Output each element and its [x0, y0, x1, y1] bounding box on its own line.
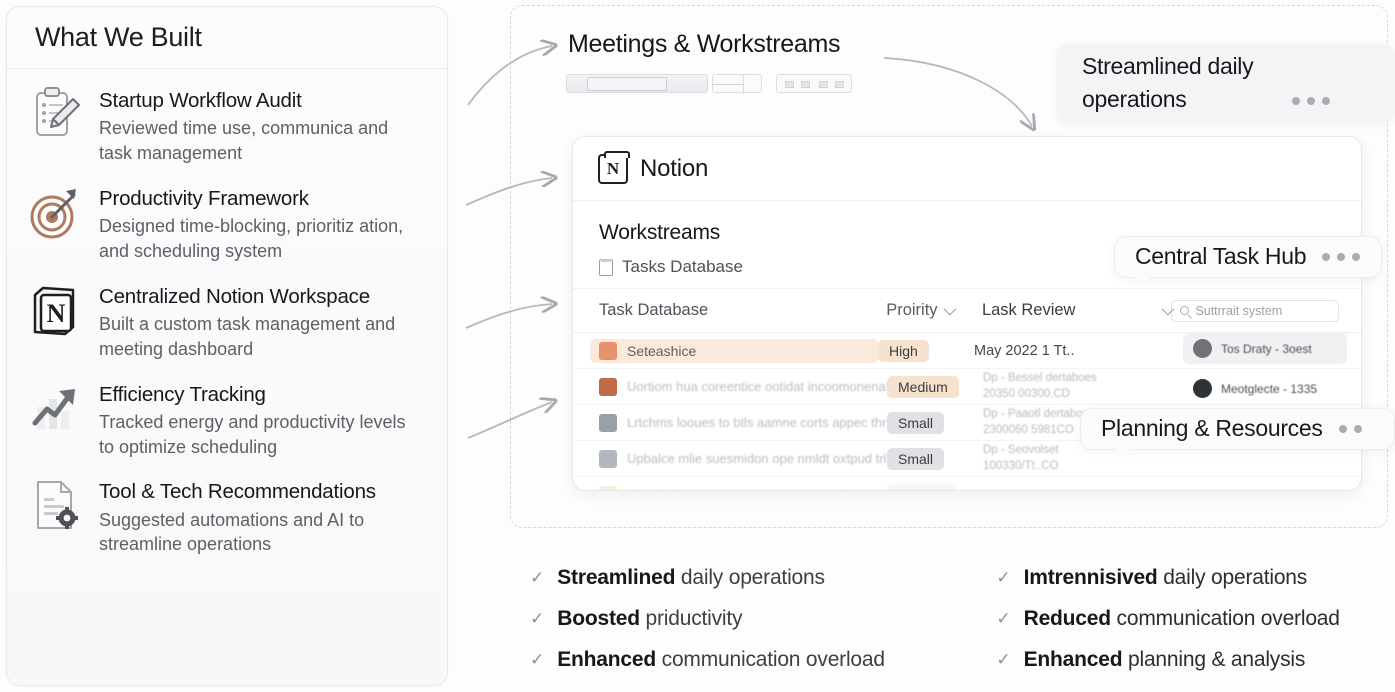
column-header-priority[interactable]: Proirity — [886, 301, 982, 320]
checklist-text-rest: daily operations — [675, 566, 825, 589]
table-header-row: Task Database Proirity Lask Review Suttr… — [573, 289, 1361, 333]
row-name: Uhntiiod Itemsnnolott niostpeee ont loll… — [627, 487, 887, 491]
callout-streamlined-daily-operations[interactable]: Streamlined daily operations — [1056, 44, 1395, 122]
database-icon — [599, 259, 613, 276]
notion-logo-icon — [598, 154, 628, 184]
slider-strip-widget — [566, 74, 708, 93]
feature-title: Efficiency Tracking — [99, 383, 425, 407]
avatar — [1193, 339, 1212, 358]
row-priority-cell: Meuum — [887, 484, 983, 492]
column-header-name[interactable]: Task Database — [599, 301, 886, 320]
callout-text: Central Task Hub — [1135, 240, 1306, 273]
checklist-text-rest: communication overload — [656, 648, 885, 671]
avatar — [1193, 379, 1212, 398]
feature-list: Startup Workflow Audit Reviewed time use… — [7, 69, 447, 557]
feature-title: Startup Workflow Audit — [99, 89, 425, 113]
callout-central-task-hub[interactable]: Central Task Hub — [1114, 236, 1382, 278]
check-icon: ✓ — [530, 651, 544, 668]
list-item[interactable]: Startup Workflow Audit Reviewed time use… — [29, 87, 425, 166]
column-header-review-label: Lask Review — [982, 301, 1076, 320]
search-icon — [1180, 306, 1189, 315]
checklist-text-rest: planning & analysis — [1122, 648, 1305, 671]
list-item: ✓ Enhanced planning & analysis — [996, 648, 1385, 689]
list-item[interactable]: Meotglecte - 1335 — [1183, 373, 1347, 404]
list-item-body: Efficiency Tracking Tracked energy and p… — [99, 381, 425, 460]
list-item-body: Productivity Framework Designed time-blo… — [99, 185, 425, 264]
list-item[interactable]: Productivity Framework Designed time-blo… — [29, 185, 425, 264]
list-item[interactable]: Efficiency Tracking Tracked energy and p… — [29, 381, 425, 460]
checklist-text: Boosted priductivity — [557, 607, 742, 631]
list-item: ✓ Imtrennisived daily operations — [996, 566, 1385, 607]
checklist-text-strong: Boosted — [557, 607, 640, 630]
row-type-icon — [599, 378, 617, 396]
page-title: What We Built — [35, 22, 202, 53]
clipboard-pencil-icon — [29, 87, 83, 143]
checklist-text-strong: Streamlined — [557, 566, 675, 589]
checklist-text: Streamlined daily operations — [557, 566, 825, 590]
checklist-text: Enhanced communication overload — [557, 648, 885, 672]
row-type-icon — [599, 450, 617, 468]
document-gear-icon — [29, 478, 83, 534]
more-options-dots-icon[interactable] — [1322, 253, 1360, 261]
assignee-name: Tos Draty - 3oest — [1221, 342, 1312, 356]
status-badge: Small — [887, 412, 944, 434]
status-badge: High — [878, 340, 929, 362]
checklist-text: Imtrennisived daily operations — [1024, 566, 1307, 590]
list-item: ✓ Enhanced communication overload — [530, 648, 996, 689]
row-name-cell: Uortiom hua coreentice ootidat incoomone… — [599, 378, 887, 396]
row-date-main: Dp - Bessel dertaboes — [983, 371, 1173, 387]
row-priority-cell: Medium — [887, 376, 983, 398]
feature-title: Tool & Tech Recommendations — [99, 480, 425, 504]
chevron-down-icon — [943, 303, 956, 316]
list-item-body: Startup Workflow Audit Reviewed time use… — [99, 87, 425, 166]
search-input[interactable]: Suttrrait system — [1171, 300, 1339, 322]
check-icon: ✓ — [530, 610, 544, 627]
callout-text: Streamlined daily operations — [1082, 50, 1292, 117]
outcomes-checklist: ✓ Streamlined daily operations ✓ Boosted… — [530, 566, 1385, 689]
row-type-icon — [599, 342, 617, 360]
feature-description: Tracked energy and productivity levels t… — [99, 410, 425, 460]
list-item-body: Tool & Tech Recommendations Suggested au… — [99, 478, 425, 557]
check-icon: ✓ — [530, 569, 544, 586]
list-item[interactable]: Tool & Tech Recommendations Suggested au… — [29, 478, 425, 557]
check-icon: ✓ — [996, 610, 1010, 627]
list-item[interactable]: Imtoriolos — [1183, 490, 1347, 491]
meetings-workstreams-title: Meetings & Workstreams — [568, 30, 840, 59]
checklist-text: Reduced communication overload — [1024, 607, 1340, 631]
presentation-slide: What We Built Startup Wor — [0, 0, 1395, 692]
row-name: Seteashice — [627, 343, 696, 359]
row-name-cell: Seteashice — [590, 339, 878, 363]
tasks-database-label: Tasks Database — [622, 257, 743, 277]
row-date-cell: May 2022 1 Tt.. — [974, 343, 1164, 359]
row-priority-cell: Small — [887, 412, 983, 434]
more-options-dots-icon[interactable] — [1339, 425, 1362, 433]
list-item: ✓ Streamlined daily operations — [530, 566, 996, 607]
row-type-icon — [599, 414, 617, 432]
panel-header: What We Built — [7, 7, 447, 69]
feature-title: Centralized Notion Workspace — [99, 285, 425, 309]
list-item-body: Centralized Notion Workspace Built a cus… — [99, 283, 425, 362]
feature-description: Built a custom task management and meeti… — [99, 312, 425, 362]
row-date-cell: Dp - Bessel dertaboes 20350 00300.CD — [983, 371, 1173, 402]
check-icon: ✓ — [996, 569, 1010, 586]
callout-text: Planning & Resources — [1101, 412, 1323, 445]
list-item[interactable]: Tos Draty - 3oest — [1183, 333, 1347, 364]
cells-strip-widget — [776, 74, 852, 93]
notion-app-name: Notion — [640, 155, 708, 183]
row-name-cell: Lrtchms looues to btls aamne corts appec… — [599, 414, 887, 432]
checklist-text-strong: Enhanced — [557, 648, 656, 671]
row-priority-cell: High — [878, 340, 974, 362]
growth-chart-icon — [29, 381, 83, 437]
row-name: Upbalce mlie suesmidon ope nmldt oxtpud … — [627, 451, 887, 466]
what-we-built-panel: What We Built Startup Wor — [6, 6, 448, 686]
callout-planning-resources[interactable]: Planning & Resources — [1080, 408, 1395, 450]
status-badge: Meuum — [887, 484, 956, 492]
checklist-text-rest: priductivity — [640, 607, 742, 630]
split-panel-strip-widget — [712, 74, 762, 93]
row-type-icon — [599, 486, 617, 492]
checklist-text: Enhanced planning & analysis — [1024, 648, 1306, 672]
checklist-text-strong: Reduced — [1024, 607, 1111, 630]
column-header-priority-label: Proirity — [886, 301, 937, 320]
list-item: ✓ Boosted priductivity — [530, 607, 996, 648]
row-priority-cell: Small — [887, 448, 983, 470]
feature-description: Reviewed time use, communica and task ma… — [99, 116, 425, 166]
column-header-review[interactable]: Lask Review — [982, 301, 1171, 320]
checklist-column-left: ✓ Streamlined daily operations ✓ Boosted… — [530, 566, 996, 689]
status-badge: Medium — [887, 376, 959, 398]
checklist-text-strong: Enhanced — [1024, 648, 1123, 671]
feature-description: Suggested automations and AI to streamli… — [99, 508, 425, 558]
row-date-sub: 20350 00300.CD — [983, 387, 1173, 403]
checklist-text-rest: communication overload — [1111, 607, 1340, 630]
row-name: Lrtchms looues to btls aamne corts appec… — [627, 415, 887, 430]
checklist-text-rest: daily operations — [1158, 566, 1308, 589]
target-dart-icon — [29, 185, 83, 241]
feature-description: Designed time-blocking, prioritiz ation,… — [99, 214, 425, 264]
assignee-name: Meotglecte - 1335 — [1221, 382, 1317, 396]
search-placeholder: Suttrrait system — [1195, 304, 1282, 318]
checklist-column-right: ✓ Imtrennisived daily operations ✓ Reduc… — [996, 566, 1385, 689]
checklist-text-strong: Imtrennisived — [1024, 566, 1158, 589]
list-item[interactable]: N Centralized Notion Workspace Built a c… — [29, 283, 425, 362]
notion-card-header: Notion — [573, 137, 1361, 201]
row-name-cell: Uhntiiod Itemsnnolott niostpeee ont loll… — [599, 486, 887, 492]
row-name: Uortiom hua coreentice ootidat incoomone… — [627, 379, 887, 394]
more-options-dots-icon[interactable] — [1292, 97, 1330, 105]
feature-title: Productivity Framework — [99, 187, 425, 211]
svg-text:N: N — [47, 299, 66, 328]
notion-cube-icon: N — [29, 283, 83, 339]
list-item: ✓ Reduced communication overload — [996, 607, 1385, 648]
row-date-sub: 100330/Tt..CO — [983, 459, 1173, 475]
row-name-cell: Upbalce mlie suesmidon ope nmldt oxtpud … — [599, 450, 887, 468]
status-badge: Small — [887, 448, 944, 470]
check-icon: ✓ — [996, 651, 1010, 668]
